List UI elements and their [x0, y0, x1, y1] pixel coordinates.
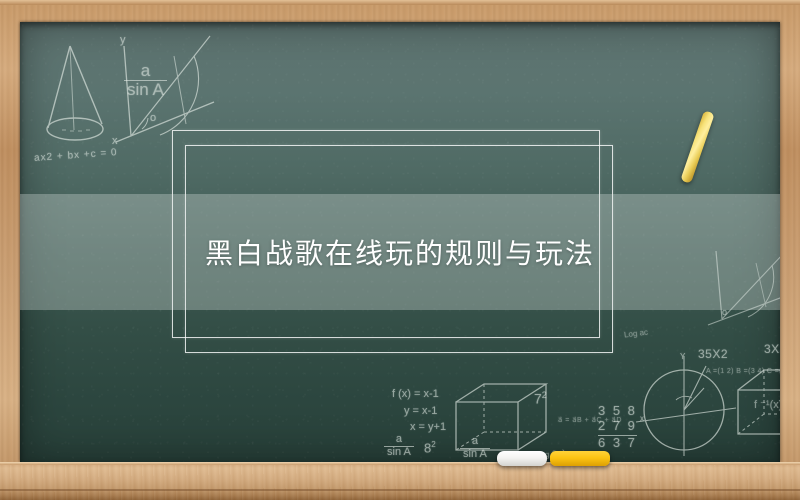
chalk-stick-yellow-tray[interactable]	[550, 451, 610, 466]
blackboard-frame: a sin A ax2 + bx +c = 0 y x o	[0, 0, 800, 500]
vector-expression-text: a⃗ = a⃗B + a⃗C + a⃗D	[558, 416, 622, 424]
power-base: 8	[424, 440, 431, 455]
fraction-denominator: sin A	[460, 449, 490, 461]
cone-icon	[36, 42, 118, 152]
subtraction-problem-text: 3 5 8 2 7 9 6 3 7	[598, 404, 637, 451]
axis-label-y-circle: Y	[680, 352, 685, 361]
fraction-numerator: a	[460, 436, 490, 449]
power-base: 7	[534, 391, 542, 407]
power-seven-text: 72	[534, 390, 547, 407]
cube-wireframe-bottom-center	[450, 380, 560, 462]
page-title: 黑白战歌在线玩的规则与玩法	[20, 194, 780, 310]
subtraction-result: 6 3 7	[598, 436, 637, 451]
chalk-stick-yellow-board[interactable]	[680, 110, 714, 184]
circle-with-radii-diagram	[632, 352, 742, 462]
power-exponent: 2	[542, 390, 547, 400]
function-line-1: f (x) = x-1	[392, 386, 446, 403]
subtraction-subtrahend: 2 7 9	[598, 419, 637, 436]
fraction-numerator: a	[384, 434, 414, 447]
axis-label-y-top-left: y	[120, 34, 126, 46]
function-line-3: x = y+1	[392, 419, 446, 436]
power-exponent: 2	[431, 440, 435, 449]
chalk-stick-white-tray[interactable]	[497, 451, 547, 466]
inverse-function-text: f ⁻¹(x) = x+1	[754, 398, 780, 411]
log-ac-text: Log ac	[624, 328, 649, 340]
multiply-35x2-text: 35X2	[698, 347, 728, 361]
multiply-3x2-text: 3X2	[764, 342, 780, 356]
law-of-sines-formula-bottom-1: a sin A	[384, 434, 414, 459]
function-line-2: y = x-1	[392, 403, 446, 420]
power-eight-text: 82	[424, 440, 436, 455]
chalk-shelf	[0, 462, 800, 500]
matrix-row-text: A =(1 2) B =(3 4) C =(5 6)	[706, 368, 780, 375]
cube-wireframe-bottom-right	[734, 366, 780, 452]
angle-label-o-top-left: o	[150, 112, 156, 124]
law-of-sines-formula-bottom-2: a sin A	[460, 436, 490, 461]
axis-label-x-top-left: x	[112, 135, 118, 147]
quadratic-equation-text: ax2 + bx +c = 0	[34, 147, 118, 164]
law-of-sines-formula-top-left: a sin A	[124, 62, 167, 100]
axis-label-x-circle: x	[640, 414, 644, 423]
fraction-denominator: sin A	[124, 81, 167, 99]
function-equations-text: f (x) = x-1 y = x-1 x = y+1	[392, 386, 446, 436]
chalkboard-surface: a sin A ax2 + bx +c = 0 y x o	[20, 22, 780, 462]
fraction-denominator: sin A	[384, 447, 414, 459]
fraction-numerator: a	[124, 62, 167, 81]
subtraction-minuend: 3 5 8	[598, 404, 637, 419]
